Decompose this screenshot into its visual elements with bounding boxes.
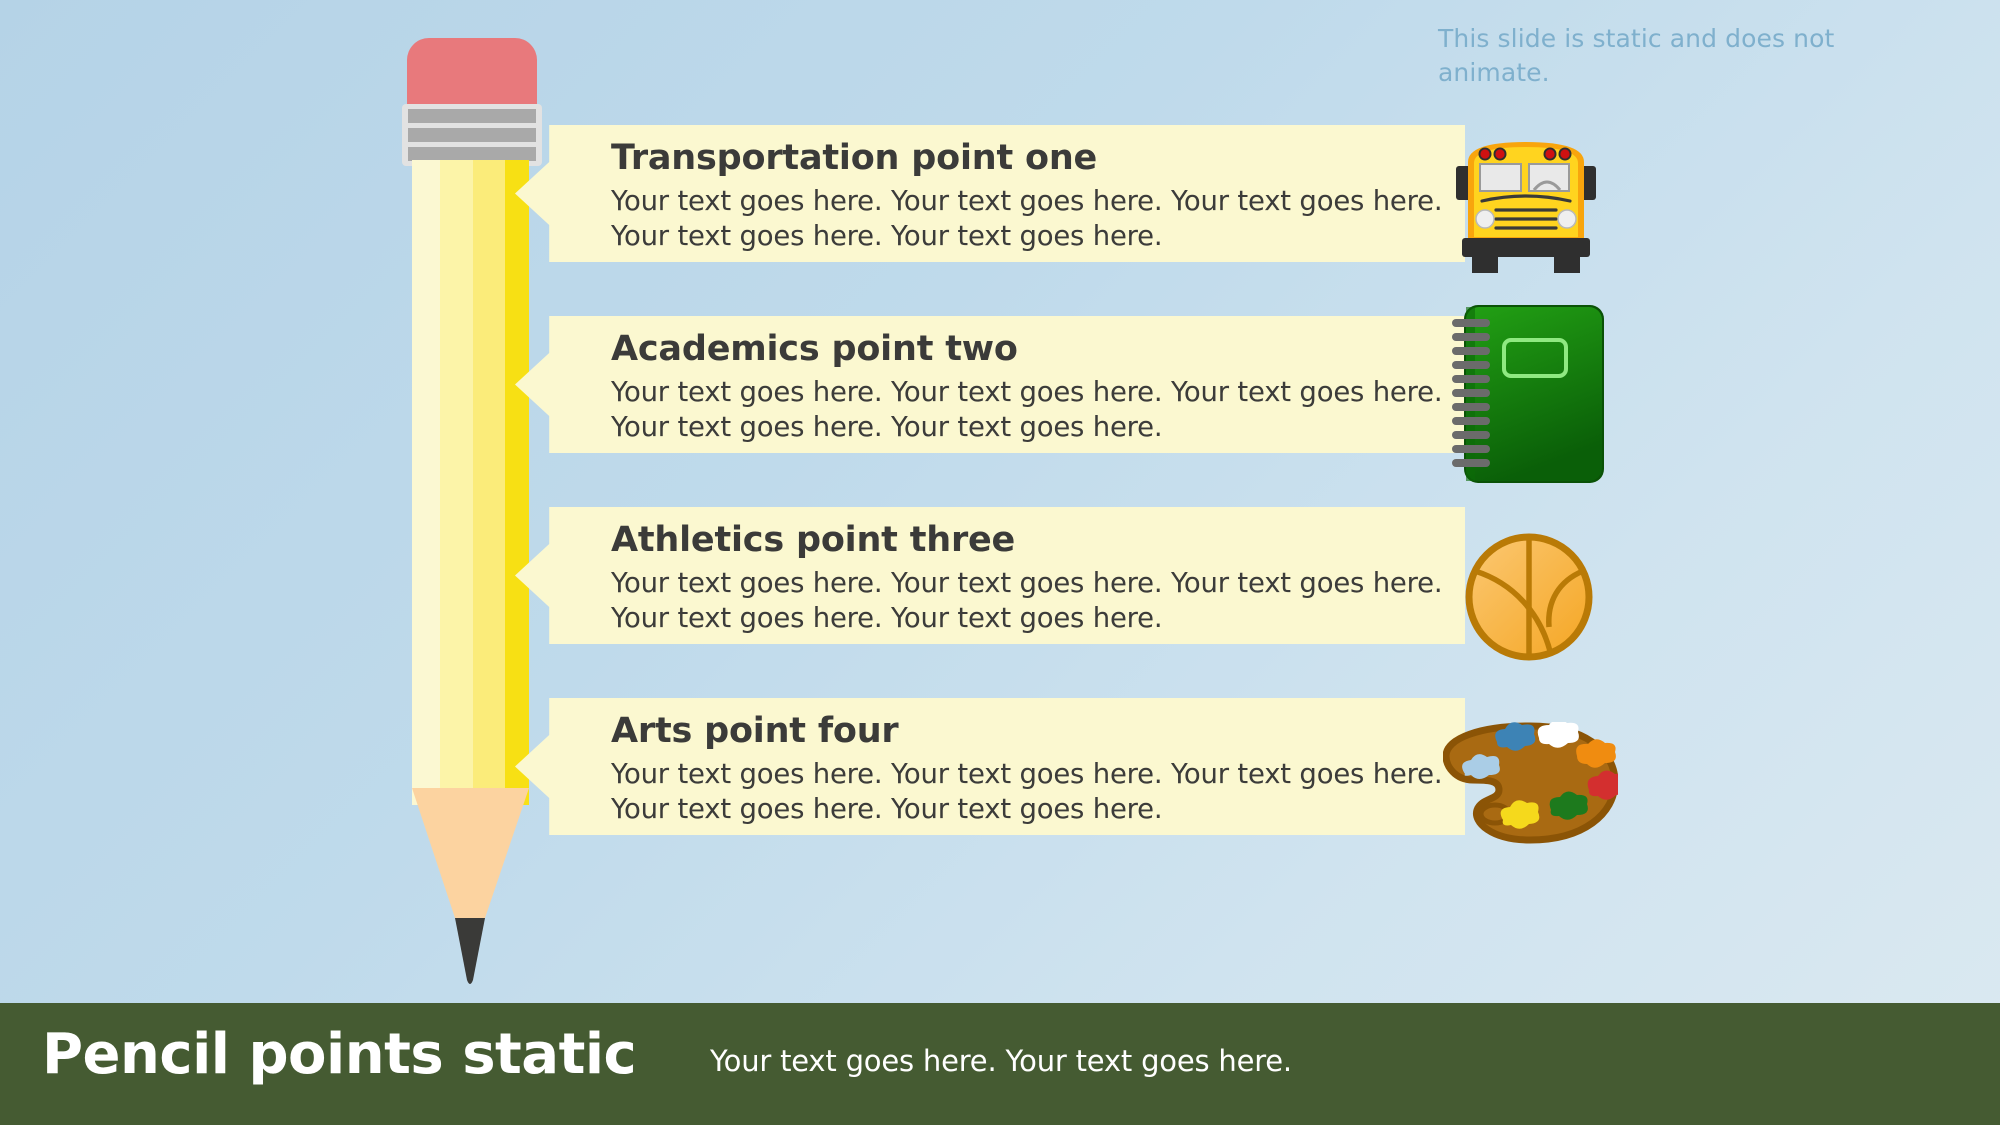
banner-1-body: Your text goes here. Your text goes here… bbox=[611, 184, 1445, 254]
static-slide-note: This slide is static and does not animat… bbox=[1438, 22, 1858, 90]
slide-canvas: This slide is static and does not animat… bbox=[0, 0, 2000, 1125]
basketball-icon-wrap[interactable] bbox=[1463, 531, 1595, 663]
school-bus-icon-wrap[interactable] bbox=[1452, 130, 1600, 275]
banner-2-body: Your text goes here. Your text goes here… bbox=[611, 375, 1445, 445]
banner-3[interactable]: Athletics point three Your text goes her… bbox=[515, 507, 1465, 644]
banner-2[interactable]: Academics point two Your text goes here.… bbox=[515, 316, 1465, 453]
basketball-icon bbox=[1463, 531, 1595, 663]
banner-3-body: Your text goes here. Your text goes here… bbox=[611, 566, 1445, 636]
banner-4-text: Arts point four Your text goes here. You… bbox=[611, 714, 1445, 827]
banner-4-body: Your text goes here. Your text goes here… bbox=[611, 757, 1445, 827]
banner-1-text: Transportation point one Your text goes … bbox=[611, 141, 1445, 254]
banner-3-title: Athletics point three bbox=[611, 523, 1445, 558]
paint-palette-icon-wrap[interactable] bbox=[1443, 722, 1618, 844]
pencil-body bbox=[412, 160, 529, 805]
pencil-graphite bbox=[455, 918, 485, 984]
pencil-wood-tip bbox=[412, 788, 529, 918]
spiral-notebook-icon bbox=[1452, 300, 1607, 485]
paint-palette-icon bbox=[1443, 722, 1618, 844]
banner-4[interactable]: Arts point four Your text goes here. You… bbox=[515, 698, 1465, 835]
banner-1[interactable]: Transportation point one Your text goes … bbox=[515, 125, 1465, 262]
school-bus-icon bbox=[1452, 130, 1600, 275]
footer-bar: Pencil points static Your text goes here… bbox=[0, 1003, 2000, 1125]
banner-4-title: Arts point four bbox=[611, 714, 1445, 749]
footer-subtitle: Your text goes here. Your text goes here… bbox=[710, 1047, 1292, 1076]
banner-1-title: Transportation point one bbox=[611, 141, 1445, 176]
spiral-notebook-icon-wrap[interactable] bbox=[1452, 300, 1607, 485]
banner-2-title: Academics point two bbox=[611, 332, 1445, 367]
page-title: Pencil points static bbox=[42, 1027, 636, 1083]
banner-3-text: Athletics point three Your text goes her… bbox=[611, 523, 1445, 636]
banner-2-text: Academics point two Your text goes here.… bbox=[611, 332, 1445, 445]
